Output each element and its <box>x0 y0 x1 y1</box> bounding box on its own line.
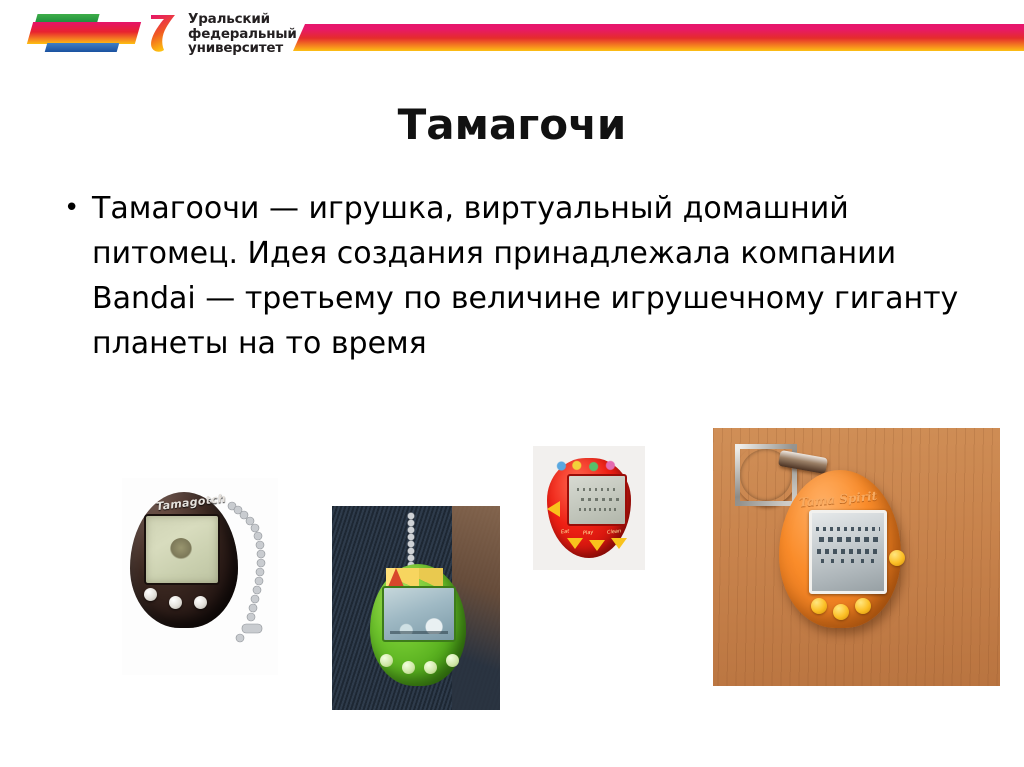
lcd-pixel-art <box>816 527 880 571</box>
urfu-logo: Уральский федеральный университет <box>148 12 297 56</box>
photo-green-tamagotchi <box>332 506 500 710</box>
tamagotchi-sticker-decor <box>553 460 623 472</box>
page-title: Тамагочи <box>0 100 1024 150</box>
emblem-bar-blue <box>45 43 120 52</box>
bullet-list: • Тамагоочи — игрушка, виртуальный домаш… <box>46 186 966 366</box>
photo-black-tamagotchi: Tamagotchi <box>122 478 278 675</box>
list-item: • Тамагоочи — игрушка, виртуальный домаш… <box>46 186 966 366</box>
button-label-eat: Eat <box>561 529 570 536</box>
lcd-house-scene <box>390 610 448 634</box>
bullet-text: Тамагоочи — игрушка, виртуальный домашни… <box>92 191 958 361</box>
tamagotchi-button <box>194 596 207 609</box>
tamagotchi-button <box>402 661 415 674</box>
photo-orange-tamagotchi: Tama Spirit <box>713 428 1000 686</box>
button-label-play: Play <box>583 529 594 536</box>
tamagotchi-lcd-screen <box>144 514 220 585</box>
ball-chain-icon <box>394 512 428 570</box>
header-gradient-stripe <box>293 24 1024 51</box>
tamagotchi-button <box>567 538 583 549</box>
tamagotchi-button <box>833 604 849 620</box>
bullet-marker: • <box>64 186 79 231</box>
tamagotchi-button <box>144 588 157 601</box>
tamagotchi-button <box>611 538 627 549</box>
tamagotchi-side-button <box>889 550 905 566</box>
tamagotchi-red-spike <box>388 568 404 587</box>
tamagotchi-lcd-screen <box>809 510 887 594</box>
urfu-swoosh-icon <box>148 12 180 56</box>
ball-chain-icon <box>226 500 272 652</box>
tamagotchi-side-button <box>547 501 560 517</box>
tamagotchi-button <box>855 598 871 614</box>
lcd-pixel-art <box>577 486 619 514</box>
tamagotchi-button <box>380 654 393 667</box>
tamagotchi-button <box>811 598 827 614</box>
tamagotchi-button <box>589 540 605 551</box>
tamagotchi-button <box>446 654 459 667</box>
photo-red-tamagotchi: Eat Play Clean <box>533 446 645 570</box>
lcd-pet-sprite <box>170 538 192 560</box>
emblem-bar-gradient <box>27 22 141 44</box>
urfu-wordmark-text: Уральский федеральный университет <box>188 12 297 56</box>
urfu-emblem-bars <box>22 12 142 56</box>
tamagotchi-button <box>169 596 182 609</box>
tamagotchi-lcd-screen <box>567 474 627 526</box>
tamagotchi-lcd-screen <box>382 586 456 642</box>
tamagotchi-button <box>424 661 437 674</box>
slide-header: Уральский федеральный университет <box>0 0 1024 68</box>
